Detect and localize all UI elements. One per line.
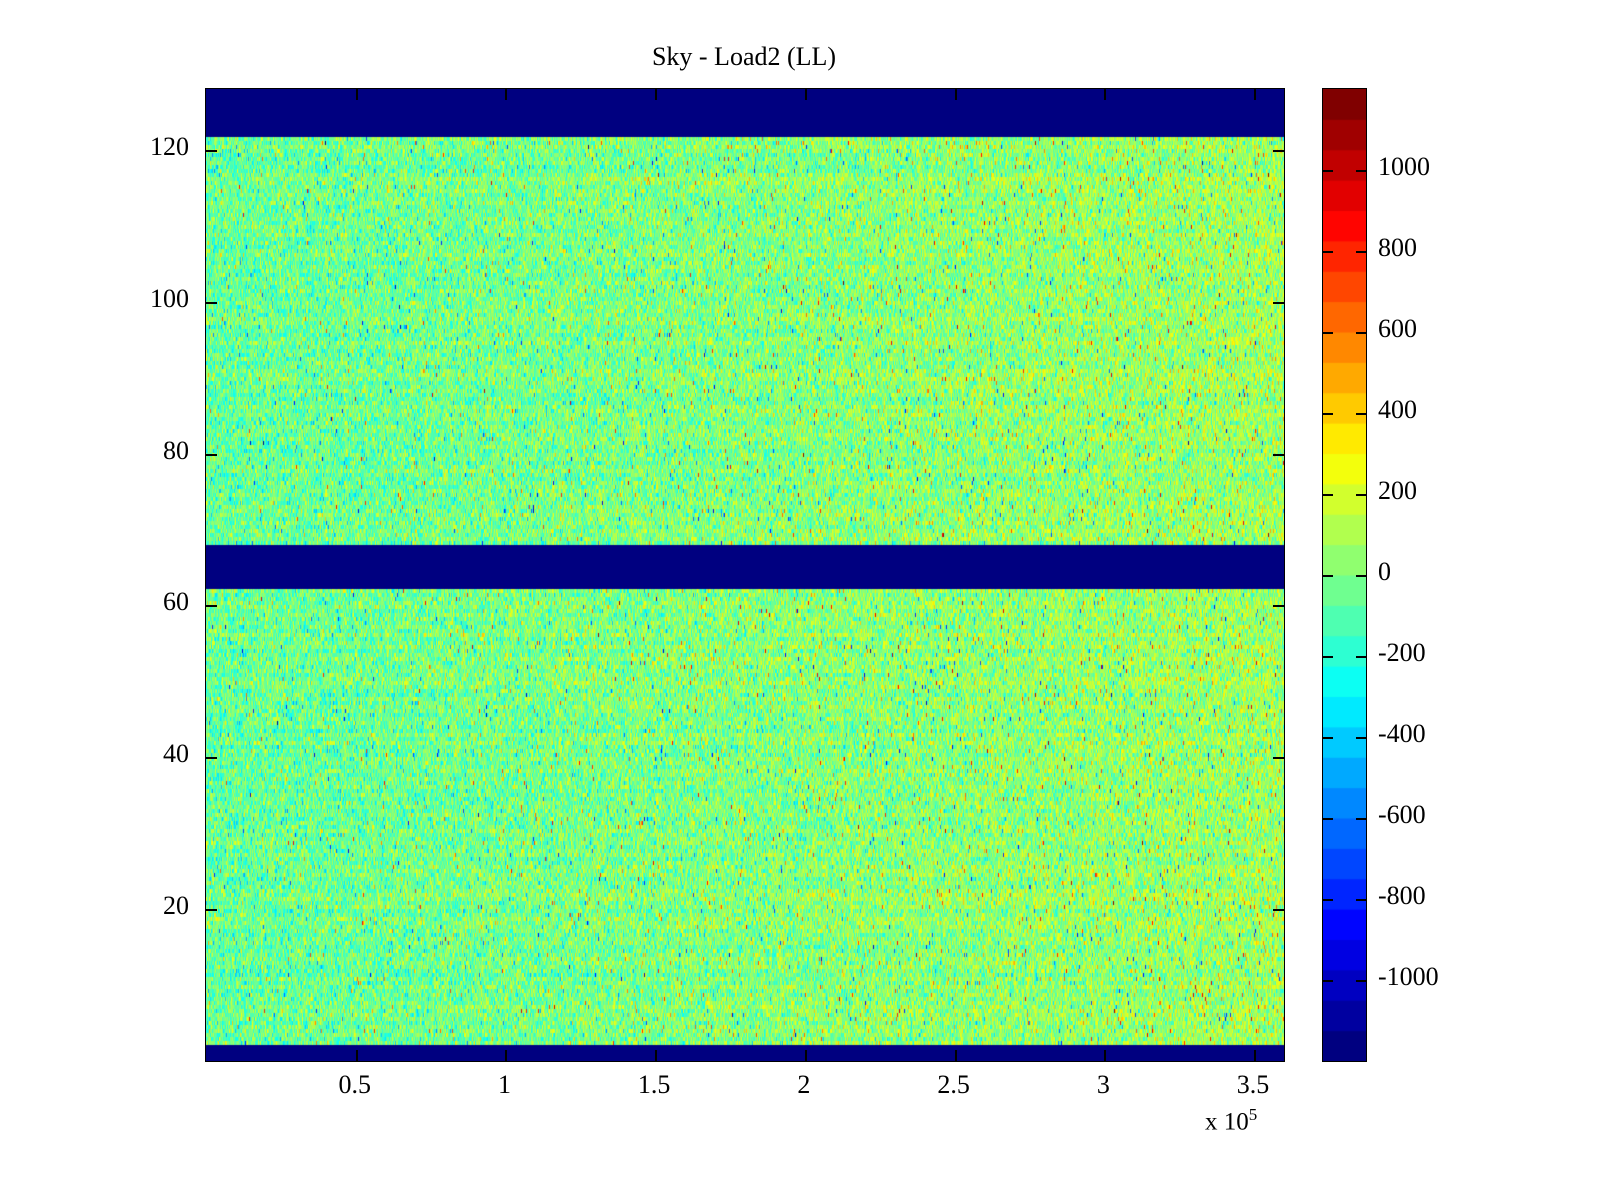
colorbar-tick-label: 600 xyxy=(1378,314,1417,344)
colorbar-tick xyxy=(1356,413,1366,415)
colorbar-tick xyxy=(1323,413,1333,415)
x-axis-tick-label: 2 xyxy=(797,1070,810,1100)
colorbar-tick xyxy=(1323,332,1333,334)
y-axis-tick xyxy=(206,150,217,152)
colorbar-tick-label: 200 xyxy=(1378,476,1417,506)
y-axis-tick xyxy=(206,454,217,456)
x-axis-tick xyxy=(955,1050,957,1061)
y-axis-tick xyxy=(1273,605,1284,607)
heatmap-image xyxy=(206,89,1284,1061)
colorbar-tick-label: -400 xyxy=(1378,719,1426,749)
colorbar-tick xyxy=(1323,899,1333,901)
y-axis-tick-label: 60 xyxy=(0,587,189,617)
colorbar-tick xyxy=(1323,980,1333,982)
y-axis-tick-label: 20 xyxy=(0,891,189,921)
y-axis-tick-label: 100 xyxy=(0,284,189,314)
colorbar-tick-label: -1000 xyxy=(1378,962,1439,992)
colorbar-tick-label: 800 xyxy=(1378,233,1417,263)
colorbar-tick xyxy=(1356,575,1366,577)
y-axis-tick xyxy=(206,909,217,911)
colorbar-tick xyxy=(1323,170,1333,172)
x-axis-tick-label: 3.5 xyxy=(1237,1070,1270,1100)
colorbar-tick-label: -600 xyxy=(1378,800,1426,830)
heatmap-axes[interactable] xyxy=(205,88,1285,1062)
x-axis-exponent-base: x 10 xyxy=(1205,1108,1249,1135)
colorbar-tick xyxy=(1356,494,1366,496)
colorbar-tick-label: 0 xyxy=(1378,557,1391,587)
x-axis-tick-label: 0.5 xyxy=(338,1070,371,1100)
x-axis-tick xyxy=(1254,1050,1256,1061)
colorbar-tick xyxy=(1356,251,1366,253)
y-axis-tick xyxy=(1273,302,1284,304)
colorbar-tick xyxy=(1356,332,1366,334)
colorbar-tick-label: 1000 xyxy=(1378,152,1430,182)
colorbar-tick-label: 400 xyxy=(1378,395,1417,425)
x-axis-tick xyxy=(505,89,507,100)
x-axis-tick xyxy=(1104,89,1106,100)
y-axis-tick-label: 40 xyxy=(0,739,189,769)
colorbar-tick xyxy=(1323,656,1333,658)
colorbar-tick xyxy=(1356,899,1366,901)
y-axis-tick xyxy=(1273,909,1284,911)
y-axis-tick xyxy=(1273,757,1284,759)
x-axis-tick-label: 2.5 xyxy=(937,1070,970,1100)
x-axis-tick-label: 1 xyxy=(498,1070,511,1100)
x-axis-tick xyxy=(805,89,807,100)
colorbar-tick xyxy=(1323,494,1333,496)
colorbar-tick xyxy=(1323,251,1333,253)
x-axis-tick xyxy=(505,1050,507,1061)
x-axis-tick xyxy=(655,1050,657,1061)
colorbar-tick xyxy=(1356,818,1366,820)
x-axis-tick xyxy=(1254,89,1256,100)
y-axis-tick xyxy=(1273,150,1284,152)
x-axis-exponent-label: x 105 xyxy=(1205,1105,1257,1136)
y-axis-tick-label: 80 xyxy=(0,436,189,466)
x-axis-tick xyxy=(356,1050,358,1061)
page-title: Sky - Load2 (LL) xyxy=(205,42,1283,72)
x-axis-exponent-power: 5 xyxy=(1249,1105,1258,1124)
y-axis-tick xyxy=(206,757,217,759)
y-axis-tick xyxy=(206,605,217,607)
y-axis-tick-label: 120 xyxy=(0,132,189,162)
colorbar-tick xyxy=(1323,818,1333,820)
x-axis-tick-label: 1.5 xyxy=(638,1070,671,1100)
x-axis-tick xyxy=(655,89,657,100)
colorbar-tick-label: -800 xyxy=(1378,881,1426,911)
colorbar-tick-label: -200 xyxy=(1378,638,1426,668)
colorbar-tick xyxy=(1356,170,1366,172)
colorbar-tick xyxy=(1356,656,1366,658)
colorbar-tick xyxy=(1356,980,1366,982)
matlab-figure: Sky - Load2 (LL) 20406080100120 0.511.52… xyxy=(0,0,1600,1200)
x-axis-tick xyxy=(356,89,358,100)
colorbar-tick xyxy=(1323,737,1333,739)
colorbar-tick xyxy=(1356,737,1366,739)
x-axis-tick-label: 3 xyxy=(1097,1070,1110,1100)
y-axis-tick xyxy=(206,302,217,304)
x-axis-tick xyxy=(1104,1050,1106,1061)
colorbar[interactable] xyxy=(1322,88,1367,1062)
colorbar-tick xyxy=(1323,575,1333,577)
x-axis-tick xyxy=(805,1050,807,1061)
x-axis-tick xyxy=(955,89,957,100)
y-axis-tick xyxy=(1273,454,1284,456)
